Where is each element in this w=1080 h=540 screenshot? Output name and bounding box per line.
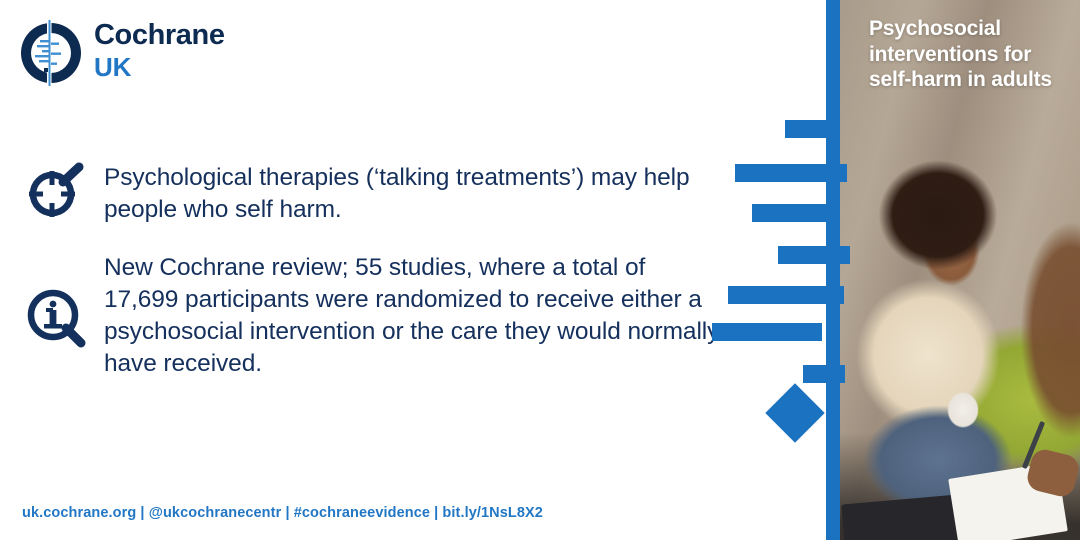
forest-plot-summary-diamond xyxy=(765,383,824,442)
info-magnifier-icon xyxy=(26,288,88,350)
cochrane-uk-logo: Cochrane UK xyxy=(18,18,278,88)
forest-plot-bar xyxy=(735,164,847,182)
logo-name: Cochrane xyxy=(94,18,274,52)
forest-plot-bar xyxy=(712,323,822,341)
footer-links[interactable]: uk.cochrane.org | @ukcochranecentr | #co… xyxy=(22,505,543,521)
key-messages: Psychological therapies (‘talking treatm… xyxy=(26,160,726,380)
logo-wordmark: Cochrane UK xyxy=(94,18,274,82)
forest-plot-bar xyxy=(778,246,850,264)
key-message-2-text: New Cochrane review; 55 studies, where a… xyxy=(104,252,726,380)
infographic-canvas: Cochrane UK Psychological therapies (‘ta… xyxy=(0,0,1080,540)
forest-plot-bar xyxy=(785,120,833,138)
cochrane-logo-icon xyxy=(18,20,84,86)
key-message-1-text: Psychological therapies (‘talking treatm… xyxy=(104,160,726,226)
key-message-2: New Cochrane review; 55 studies, where a… xyxy=(26,252,726,380)
logo-region: UK xyxy=(94,52,274,82)
page-title: Psychosocial interventions for self-harm… xyxy=(869,16,1069,93)
key-message-1: Psychological therapies (‘talking treatm… xyxy=(26,160,726,226)
forest-plot-bar xyxy=(752,204,840,222)
forest-plot-axis-line xyxy=(826,0,840,540)
target-crosshair-icon xyxy=(26,160,88,222)
forest-plot-bar xyxy=(728,286,844,304)
forest-plot-bar xyxy=(803,365,845,383)
